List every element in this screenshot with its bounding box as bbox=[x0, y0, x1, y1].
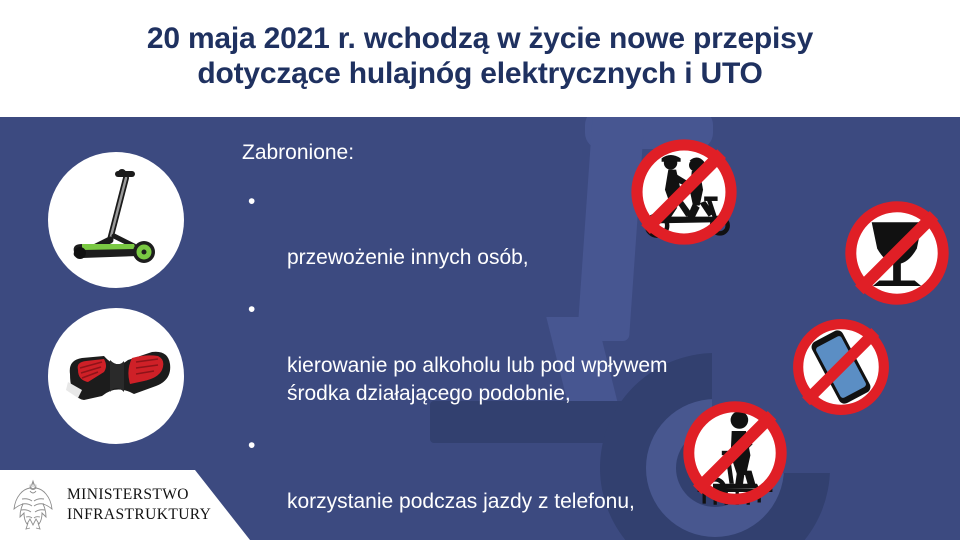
title-band: 20 maja 2021 r. wchodzą w życie nowe prz… bbox=[0, 0, 960, 117]
polish-eagle-emblem bbox=[10, 479, 56, 531]
page-title: 20 maja 2021 r. wchodzą w życie nowe prz… bbox=[147, 22, 813, 92]
electric-scooter-photo bbox=[48, 152, 184, 288]
bullet-marker: • bbox=[248, 188, 255, 216]
list-item-label: przewożenie innych osób, bbox=[287, 246, 529, 269]
bullet-marker: • bbox=[248, 296, 255, 324]
electric-scooter-illustration bbox=[48, 152, 184, 288]
rules-heading: Zabronione: bbox=[242, 140, 842, 166]
list-item: • przewożenie innych osób, bbox=[242, 188, 842, 272]
hoverboard-illustration bbox=[48, 308, 184, 444]
slide-root: 20 maja 2021 r. wchodzą w życie nowe prz… bbox=[0, 0, 960, 540]
list-item: • korzystanie podczas jazdy z telefonu, bbox=[242, 432, 842, 516]
bullet-marker: • bbox=[248, 432, 255, 460]
list-item-label: kierowanie po alkoholu lub pod wpływem ś… bbox=[287, 354, 668, 405]
ministry-name: MINISTERSTWO INFRASTRUKTURY bbox=[67, 485, 211, 525]
list-item: • kierowanie po alkoholu lub pod wpływem… bbox=[242, 296, 842, 408]
rules-content: Zabronione: • przewożenie innych osób, •… bbox=[242, 140, 842, 540]
hoverboard-photo bbox=[48, 308, 184, 444]
list-item-label: korzystanie podczas jazdy z telefonu, bbox=[287, 490, 635, 513]
rules-list: • przewożenie innych osób, • kierowanie … bbox=[242, 188, 842, 540]
no-alcohol-icon bbox=[842, 198, 952, 308]
